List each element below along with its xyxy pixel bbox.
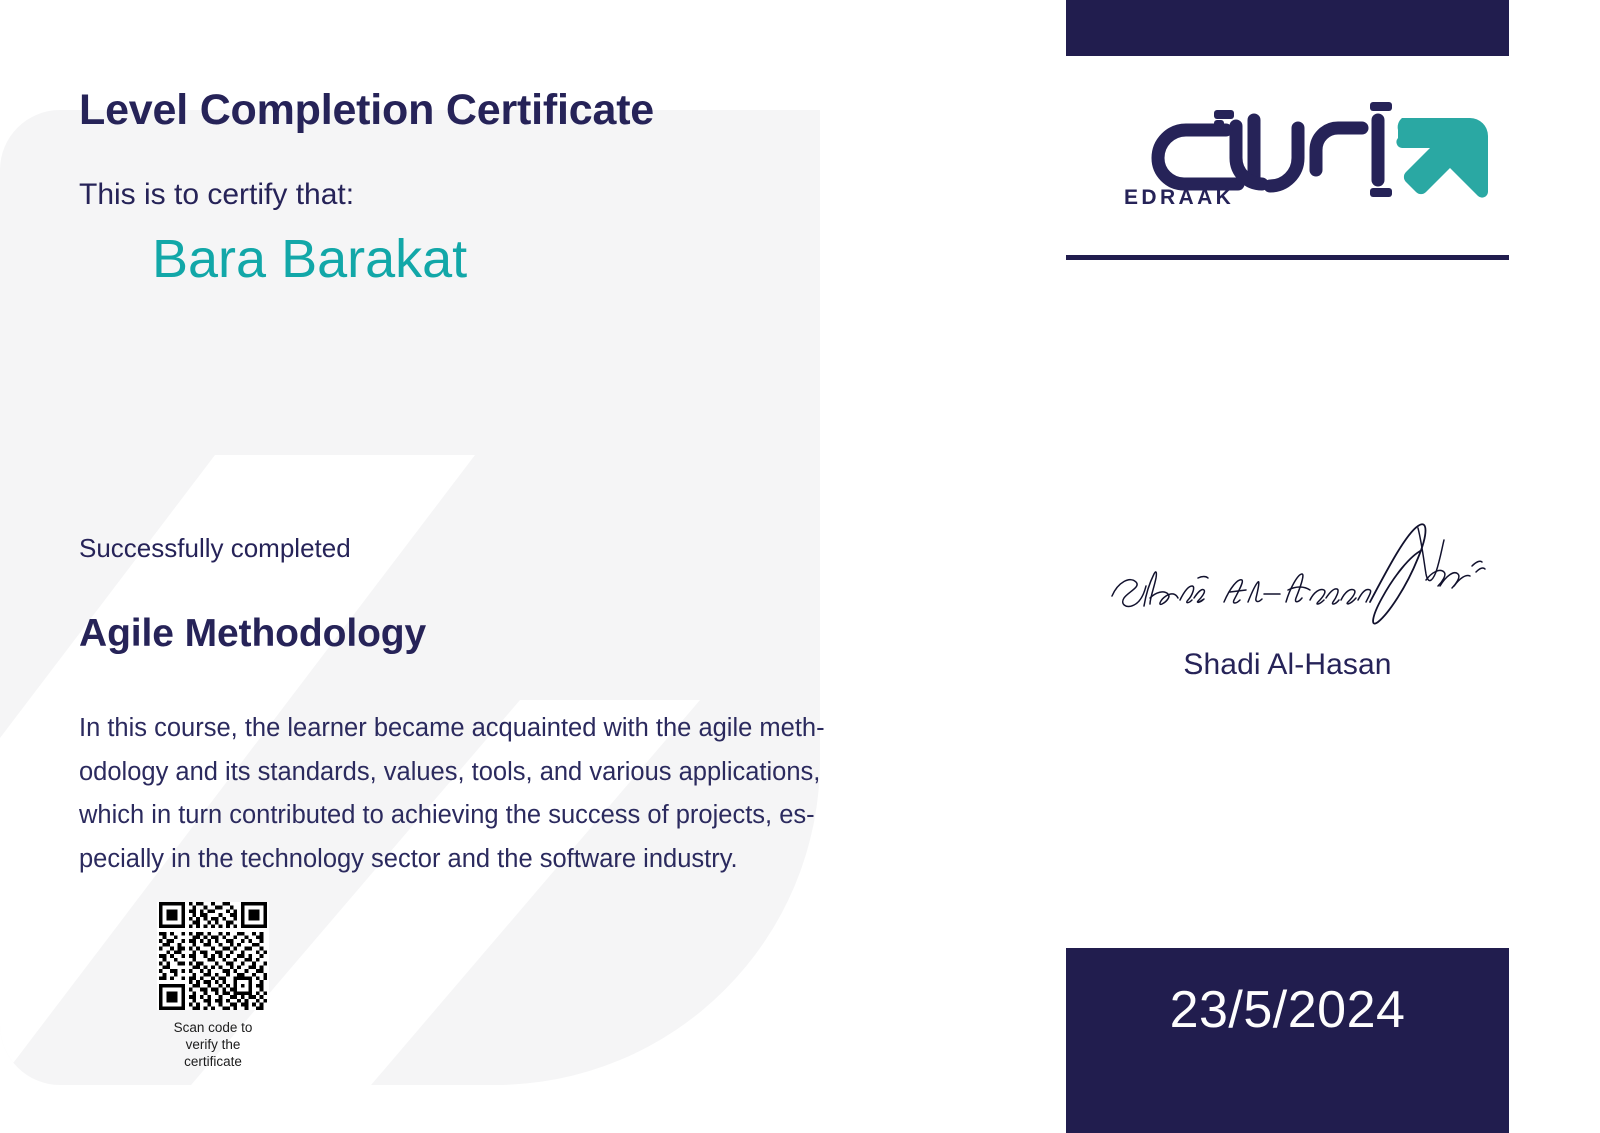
logo-divider xyxy=(1066,255,1509,260)
top-navy-bar xyxy=(1066,0,1509,56)
edraak-latin-wordmark: EDRAAK xyxy=(1124,186,1234,209)
certify-label: This is to certify that: xyxy=(79,178,354,212)
completion-label: Successfully completed xyxy=(79,533,351,564)
qr-caption-line: certificate xyxy=(130,1053,296,1070)
main-content-column: Level Completion Certificate This is to … xyxy=(79,0,1019,1133)
brand-logo: EDRAAK xyxy=(1066,96,1509,216)
certificate-page: Level Completion Certificate This is to … xyxy=(0,0,1600,1133)
issue-date: 23/5/2024 xyxy=(1170,980,1406,1040)
course-description-line: In this course, the learner became acqua… xyxy=(79,707,1009,751)
qr-code-icon[interactable] xyxy=(157,902,269,1010)
handwritten-signature-icon xyxy=(1088,510,1488,640)
edraak-arrow-mark-icon xyxy=(1396,118,1488,198)
qr-caption: Scan code to verify the certificate xyxy=(130,1019,296,1070)
date-block: 23/5/2024 xyxy=(1066,948,1509,1133)
page-title: Level Completion Certificate xyxy=(79,86,654,135)
course-description-line: odology and its standards, values, tools… xyxy=(79,751,1009,795)
course-title: Agile Methodology xyxy=(79,612,426,656)
course-description-line: pecially in the technology sector and th… xyxy=(79,838,1009,882)
course-description: In this course, the learner became acqua… xyxy=(79,707,1009,881)
recipient-name: Bara Barakat xyxy=(152,228,467,290)
signature-block: Shadi Al-Hasan xyxy=(1066,510,1509,682)
signatory-name: Shadi Al-Hasan xyxy=(1066,648,1509,682)
verification-block: Scan code to verify the certificate xyxy=(118,902,308,1070)
qr-caption-line: verify the xyxy=(130,1036,296,1053)
edraak-logo-icon: EDRAAK xyxy=(1066,96,1509,216)
course-description-line: which in turn contributed to achieving t… xyxy=(79,794,1009,838)
qr-caption-line: Scan code to xyxy=(130,1019,296,1036)
